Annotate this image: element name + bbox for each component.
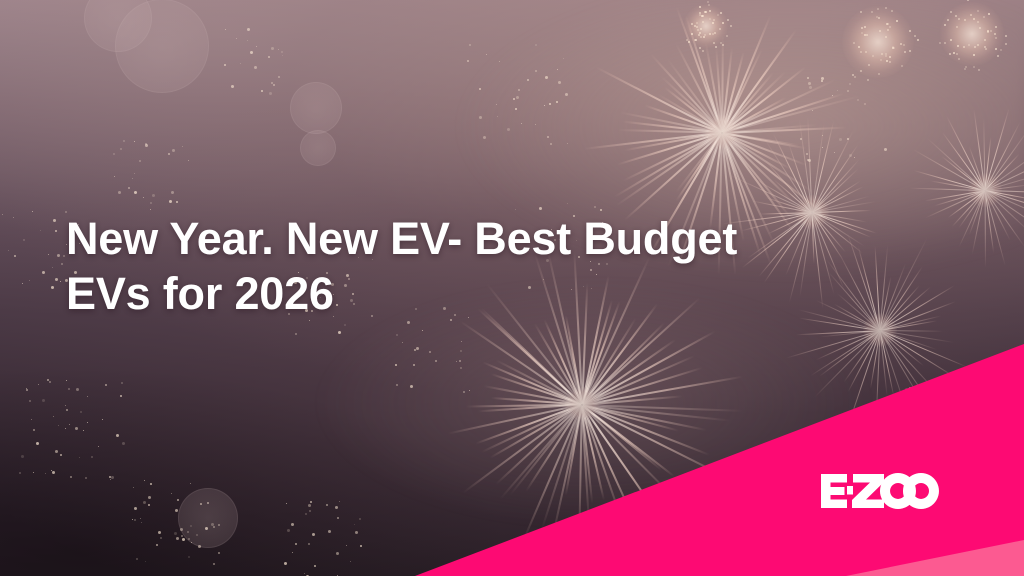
banner-canvas: New Year. New EV- Best Budget EVs for 20… — [0, 0, 1024, 576]
ezoo-wordmark-icon — [818, 468, 950, 514]
ezoo-logo[interactable] — [818, 468, 950, 514]
puff-top-right-b — [940, 2, 1004, 66]
puff-top-right-a — [842, 6, 914, 78]
puff-top-mid — [684, 4, 728, 48]
page-title: New Year. New EV- Best Budget EVs for 20… — [66, 212, 926, 322]
